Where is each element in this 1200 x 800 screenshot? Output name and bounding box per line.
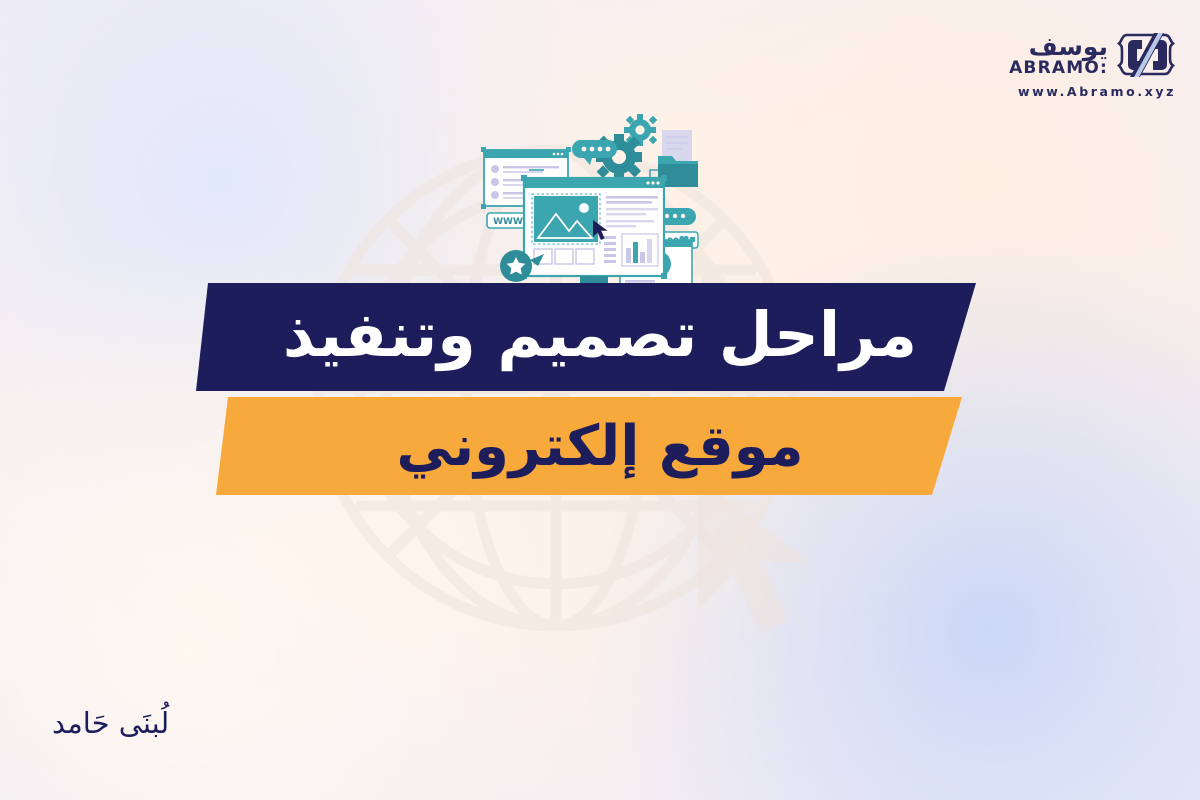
image-placeholder bbox=[532, 194, 600, 244]
logo-url[interactable]: www.Abramo.xyz bbox=[988, 84, 1178, 99]
author-name: لُبنَى حَامد bbox=[52, 706, 169, 740]
gear-small bbox=[624, 114, 657, 146]
title-line-1: مراحل تصميم وتنفيذ bbox=[0, 298, 1200, 371]
brand-logo[interactable]: يوسف ABRAMO: www.Abramo.xyz bbox=[988, 22, 1178, 108]
www-badge: WWW bbox=[487, 213, 529, 228]
code-brackets-icon bbox=[1114, 32, 1178, 78]
logo-arabic-name: يوسف bbox=[1029, 34, 1108, 59]
svg-text:WWW: WWW bbox=[493, 217, 523, 227]
logo-latin-name: ABRAMO: bbox=[1009, 60, 1108, 78]
bar-chart bbox=[622, 234, 658, 266]
title-line-2: موقع إلكتروني bbox=[0, 414, 1200, 479]
mouse-cursor-icon bbox=[690, 470, 820, 640]
poster-canvas: .tl{fill:#3ba5b0} .tld{fill:#2e8d99} .wh… bbox=[0, 0, 1200, 800]
web-design-illustration: .tl{fill:#3ba5b0} .tld{fill:#2e8d99} .wh… bbox=[462, 112, 722, 312]
